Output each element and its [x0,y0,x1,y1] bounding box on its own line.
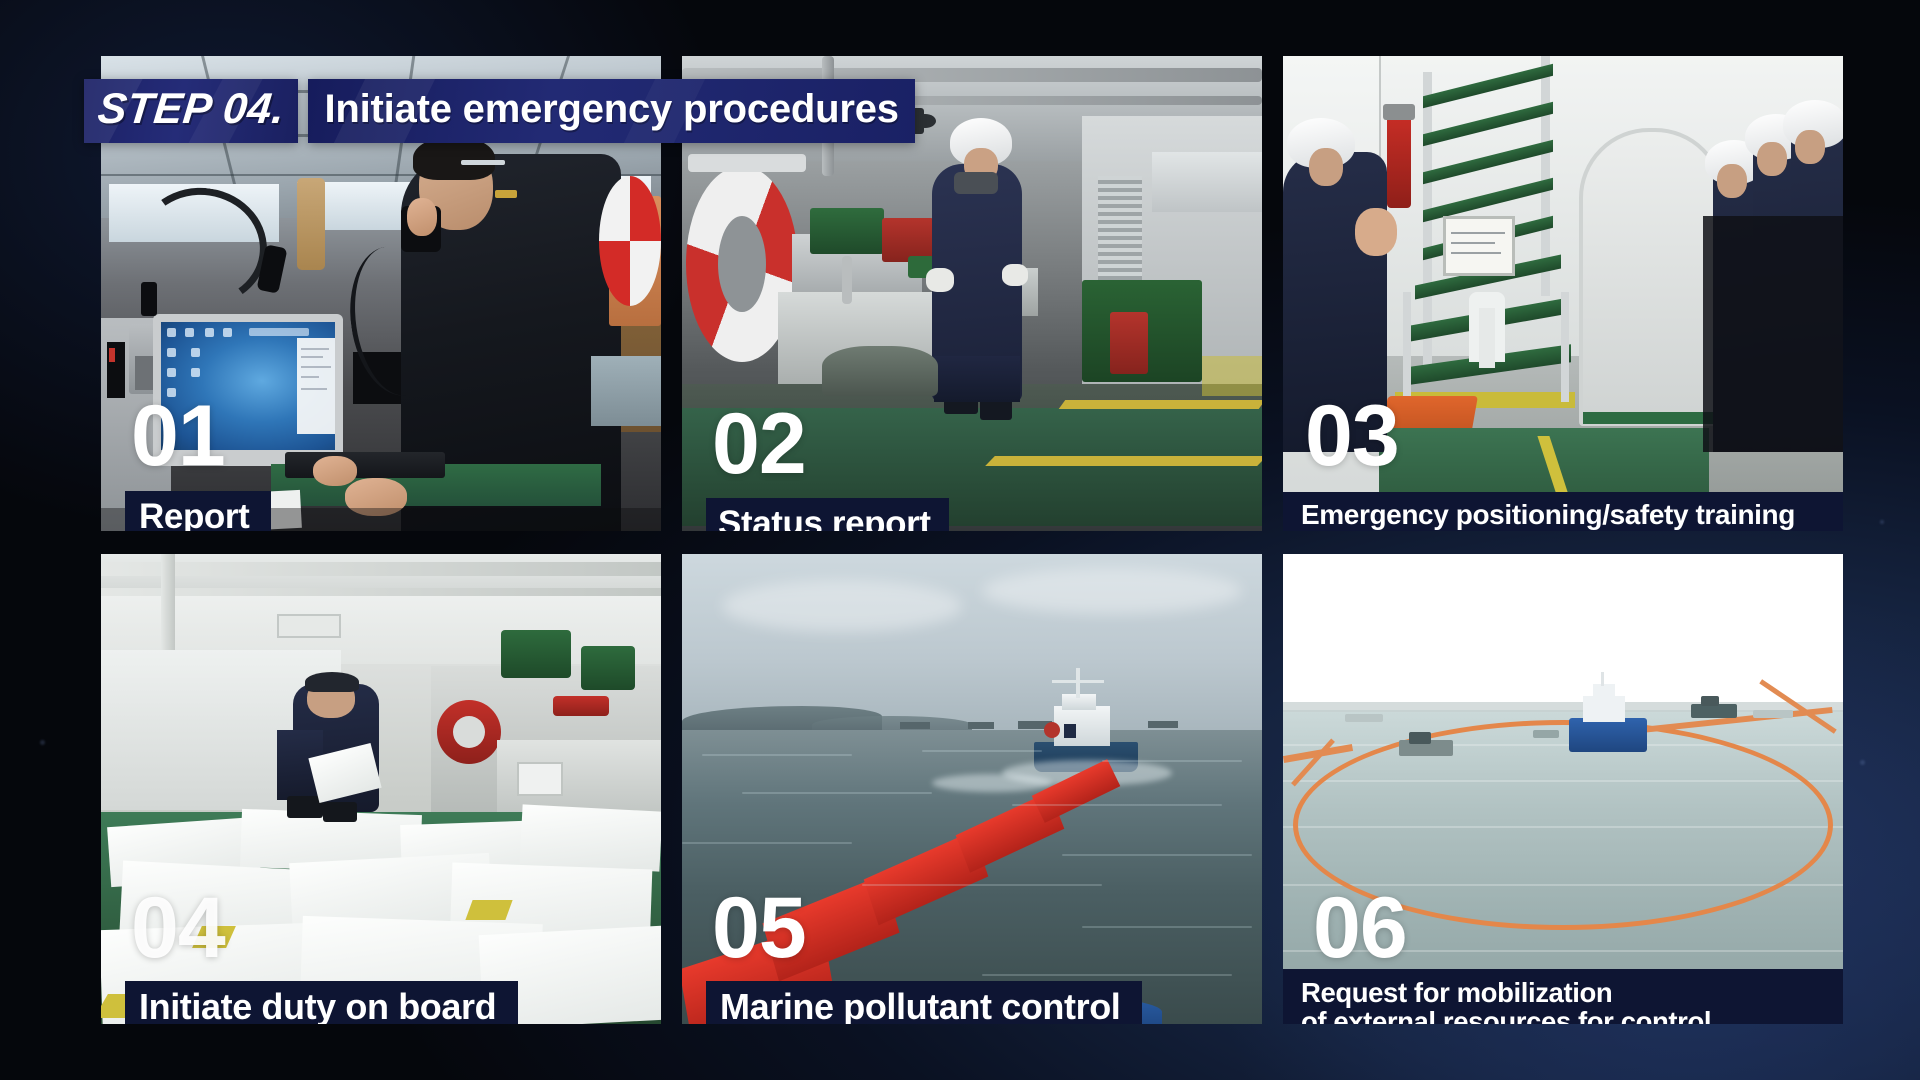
step-title-plate: Initiate emergency procedures [308,79,914,143]
panel-caption: Marine pollutant control [706,981,1142,1024]
panel-05-marine-pollutant-control[interactable]: 05 Marine pollutant control [682,554,1262,1024]
step-badge-label: STEP 04. [95,85,287,134]
panel-number: 06 [1313,892,1407,964]
step-title-label: Initiate emergency procedures [324,87,898,132]
panel-number: 04 [131,892,225,964]
panel-caption: Status report [706,498,949,531]
panel-number: 02 [712,408,806,480]
step-badge: STEP 04. [84,79,298,143]
panel-number: 05 [712,892,806,964]
slide-stage: 01 Report [0,0,1920,1080]
step-header-banner: STEP 04. Initiate emergency procedures [84,79,915,143]
banner-gap [298,79,308,143]
panel-caption: Initiate duty on board [125,981,518,1024]
procedure-panel-grid: 01 Report [101,56,1823,1024]
panel-number: 01 [131,400,225,472]
panel-04-initiate-duty[interactable]: 04 Initiate duty on board [101,554,661,1024]
panel-03-emergency-positioning[interactable]: 03 Emergency positioning/safety training… [1283,56,1843,531]
panel-caption: Emergency positioning/safety training an… [1283,492,1843,531]
panel-number: 03 [1305,400,1399,472]
panel-06-request-mobilization[interactable]: 06 Request for mobilization of external … [1283,554,1843,1024]
panel-caption: Report [125,491,271,531]
panel-caption: Request for mobilization of external res… [1283,969,1843,1024]
